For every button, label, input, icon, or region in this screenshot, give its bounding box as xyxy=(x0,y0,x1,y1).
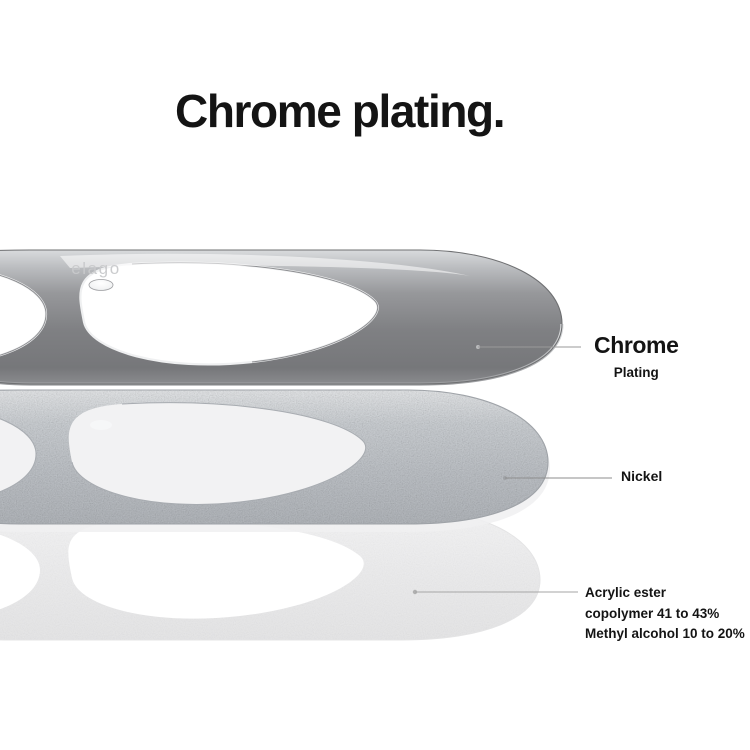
callout-nickel-label: Nickel xyxy=(621,469,662,483)
callout-adhesive: Acrylic ester copolymer 41 to 43% Methyl… xyxy=(585,583,745,645)
callout-nickel: Nickel xyxy=(621,469,662,483)
callout-chrome: Chrome Plating xyxy=(594,334,679,380)
callout-adhesive-line-2: copolymer 41 to 43% xyxy=(585,604,745,625)
callout-chrome-sublabel: Plating xyxy=(594,366,679,380)
callout-adhesive-line-1: Acrylic ester xyxy=(585,583,745,604)
callout-adhesive-line-3: Methyl alcohol 10 to 20% xyxy=(585,624,745,645)
product-layer-nickel xyxy=(0,390,550,532)
product-feature-slide: Chrome plating. xyxy=(0,0,750,750)
brand-logo-elago: elago xyxy=(71,259,121,278)
product-layer-chrome: elago xyxy=(0,250,562,384)
callout-chrome-label: Chrome xyxy=(594,334,679,357)
